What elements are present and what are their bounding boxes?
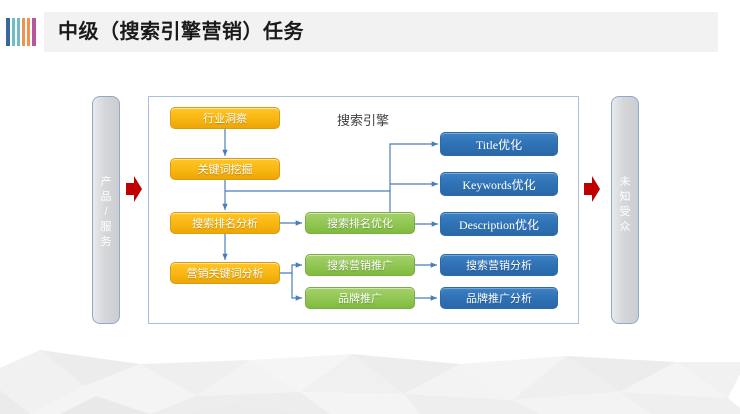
pillar-unknown-audience-label: 未知受众 — [612, 175, 638, 235]
slide-canvas: 中级（搜索引擎营销）任务 搜索引擎 产品/服务 未知受众 — [0, 0, 740, 414]
outbound-red-arrow-icon — [584, 176, 600, 202]
node-description-optimization[interactable]: Description优化 — [440, 212, 558, 236]
bar-orange — [22, 18, 26, 46]
node-industry-insight[interactable]: 行业洞察 — [170, 107, 280, 129]
node-keyword-mining[interactable]: 关键词挖掘 — [170, 158, 280, 180]
node-rank-optimization[interactable]: 搜索排名优化 — [305, 212, 415, 234]
search-engine-label: 搜索引擎 — [337, 110, 389, 129]
node-sem-analysis[interactable]: 搜索营销分析 — [440, 254, 558, 276]
node-brand-promotion-analysis[interactable]: 品牌推广分析 — [440, 287, 558, 309]
pillar-product-service: 产品/服务 — [92, 96, 120, 324]
node-sem-promotion[interactable]: 搜索营销推广 — [305, 254, 415, 276]
title-accent-bars-icon — [6, 18, 38, 46]
node-marketing-keyword-analysis[interactable]: 营销关键词分析 — [170, 262, 280, 284]
pillar-product-service-label: 产品/服务 — [93, 175, 119, 250]
bar-orange-thin — [27, 18, 29, 46]
node-brand-promotion[interactable]: 品牌推广 — [305, 287, 415, 309]
node-rank-analysis[interactable]: 搜索排名分析 — [170, 212, 280, 234]
low-poly-decoration — [0, 334, 740, 414]
page-title: 中级（搜索引擎营销）任务 — [58, 16, 304, 48]
bar-blue — [6, 18, 10, 46]
pillar-unknown-audience: 未知受众 — [611, 96, 639, 324]
node-title-optimization[interactable]: Title优化 — [440, 132, 558, 156]
bar-purple — [32, 18, 36, 46]
node-keywords-optimization[interactable]: Keywords优化 — [440, 172, 558, 196]
bar-teal — [12, 18, 15, 46]
inbound-red-arrow-icon — [126, 176, 142, 202]
bar-teal-thin — [17, 18, 19, 46]
